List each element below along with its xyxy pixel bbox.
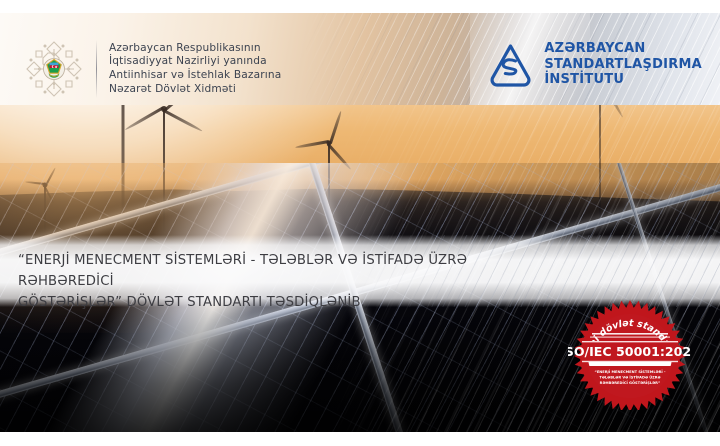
organization-lockup: Azərbaycan Respublikasının İqtisadiyyat … — [22, 37, 281, 101]
svg-text:TƏLƏBLƏR VƏ İSTİFADƏ ÜZRƏ: TƏLƏBLƏR VƏ İSTİFADƏ ÜZRƏ — [599, 374, 660, 379]
institute-lockup: AZƏRBAYCAN STANDARTLAŞDIRMA İNSTİTUTU — [488, 41, 702, 88]
top-white-strip — [0, 0, 720, 13]
poster-root: Azərbaycan Respublikasının İqtisadiyyat … — [0, 0, 720, 446]
organization-name: Azərbaycan Respublikasının İqtisadiyyat … — [109, 42, 281, 96]
certification-seal: Yeni dövlət standartı ISO/IEC 50001:2022… — [568, 300, 692, 410]
headline-banner: “ENERJİ MENECMENT SİSTEMLƏRİ - TƏLƏBLƏR … — [0, 235, 720, 307]
geometric-ornament-frame — [22, 37, 86, 101]
svg-text:RƏHBƏREDİCİ GÖSTƏRİŞLƏR”: RƏHBƏREDİCİ GÖSTƏRİŞLƏR” — [600, 380, 661, 385]
bottom-white-strip — [0, 432, 720, 446]
seal-footer-text: “ENERJİ MENECMENT SİSTEMLƏRİ - TƏLƏBLƏR … — [594, 369, 666, 385]
headline-text: “ENERJİ MENECMENT SİSTEMLƏRİ - TƏLƏBLƏR … — [18, 250, 538, 313]
asi-triangle-logo — [488, 42, 533, 87]
svg-text:“ENERJİ MENECMENT SİSTEMLƏRİ -: “ENERJİ MENECMENT SİSTEMLƏRİ - — [594, 369, 666, 374]
institute-name: AZƏRBAYCAN STANDARTLAŞDIRMA İNSTİTUTU — [544, 41, 702, 88]
lockup-divider — [96, 40, 97, 98]
seal-standard-code: ISO/IEC 50001:2022 — [568, 344, 692, 359]
header-band: Azərbaycan Respublikasının İqtisadiyyat … — [0, 13, 720, 105]
azerbaijan-state-emblem — [44, 59, 65, 80]
